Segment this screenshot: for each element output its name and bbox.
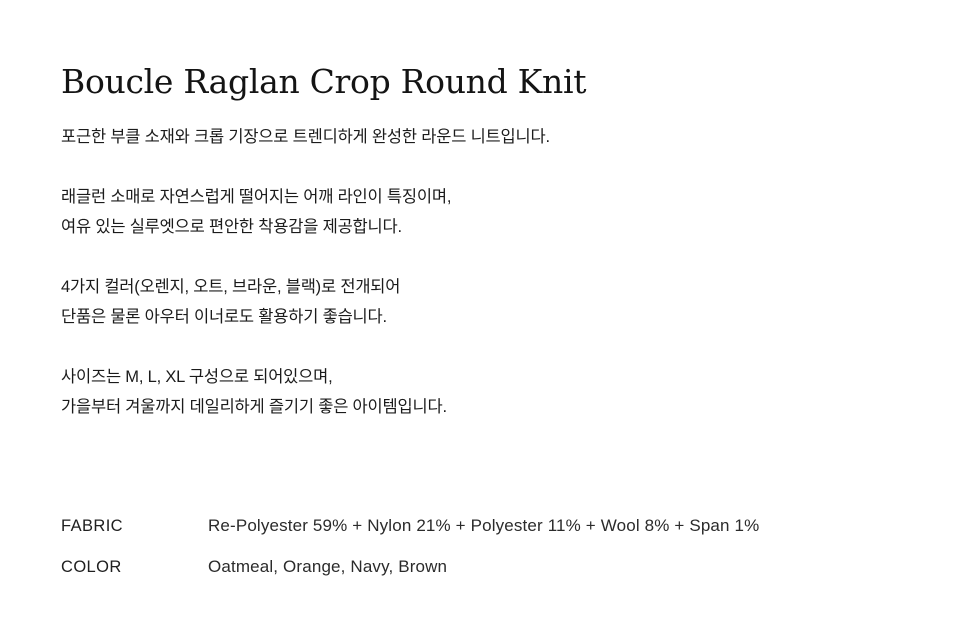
product-spec-table: FABRIC Re-Polyester 59% + Nylon 21% + Po… <box>61 516 881 598</box>
product-description-page: Boucle Raglan Crop Round Knit 포근한 부클 소재와… <box>0 0 960 626</box>
description-line: 포근한 부클 소재와 크롭 기장으로 트렌디하게 완성한 라운드 니트입니다. <box>61 122 801 152</box>
spec-value-fabric: Re-Polyester 59% + Nylon 21% + Polyester… <box>208 516 881 536</box>
description-line: 여유 있는 실루엣으로 편안한 착용감을 제공합니다. <box>61 212 801 242</box>
spec-label-fabric: FABRIC <box>61 517 208 536</box>
spec-value-color: Oatmeal, Orange, Navy, Brown <box>208 557 881 577</box>
description-line: 가을부터 겨울까지 데일리하게 즐기기 좋은 아이템입니다. <box>61 392 801 422</box>
spec-label-color: COLOR <box>61 558 208 577</box>
spec-row-fabric: FABRIC Re-Polyester 59% + Nylon 21% + Po… <box>61 516 881 557</box>
description-block: 사이즈는 M, L, XL 구성으로 되어있으며, 가을부터 겨울까지 데일리하… <box>61 362 801 422</box>
description-block: 래글런 소매로 자연스럽게 떨어지는 어깨 라인이 특징이며, 여유 있는 실루… <box>61 182 801 242</box>
description-line: 사이즈는 M, L, XL 구성으로 되어있으며, <box>61 362 801 392</box>
description-line: 단품은 물론 아우터 이너로도 활용하기 좋습니다. <box>61 302 801 332</box>
description-line: 4가지 컬러(오렌지, 오트, 브라운, 블랙)로 전개되어 <box>61 272 801 302</box>
spec-row-color: COLOR Oatmeal, Orange, Navy, Brown <box>61 557 881 598</box>
product-description: 포근한 부클 소재와 크롭 기장으로 트렌디하게 완성한 라운드 니트입니다. … <box>61 122 801 422</box>
description-line: 래글런 소매로 자연스럽게 떨어지는 어깨 라인이 특징이며, <box>61 182 801 212</box>
page-title: Boucle Raglan Crop Round Knit <box>61 63 586 102</box>
description-block: 4가지 컬러(오렌지, 오트, 브라운, 블랙)로 전개되어 단품은 물론 아우… <box>61 272 801 332</box>
description-block: 포근한 부클 소재와 크롭 기장으로 트렌디하게 완성한 라운드 니트입니다. <box>61 122 801 152</box>
